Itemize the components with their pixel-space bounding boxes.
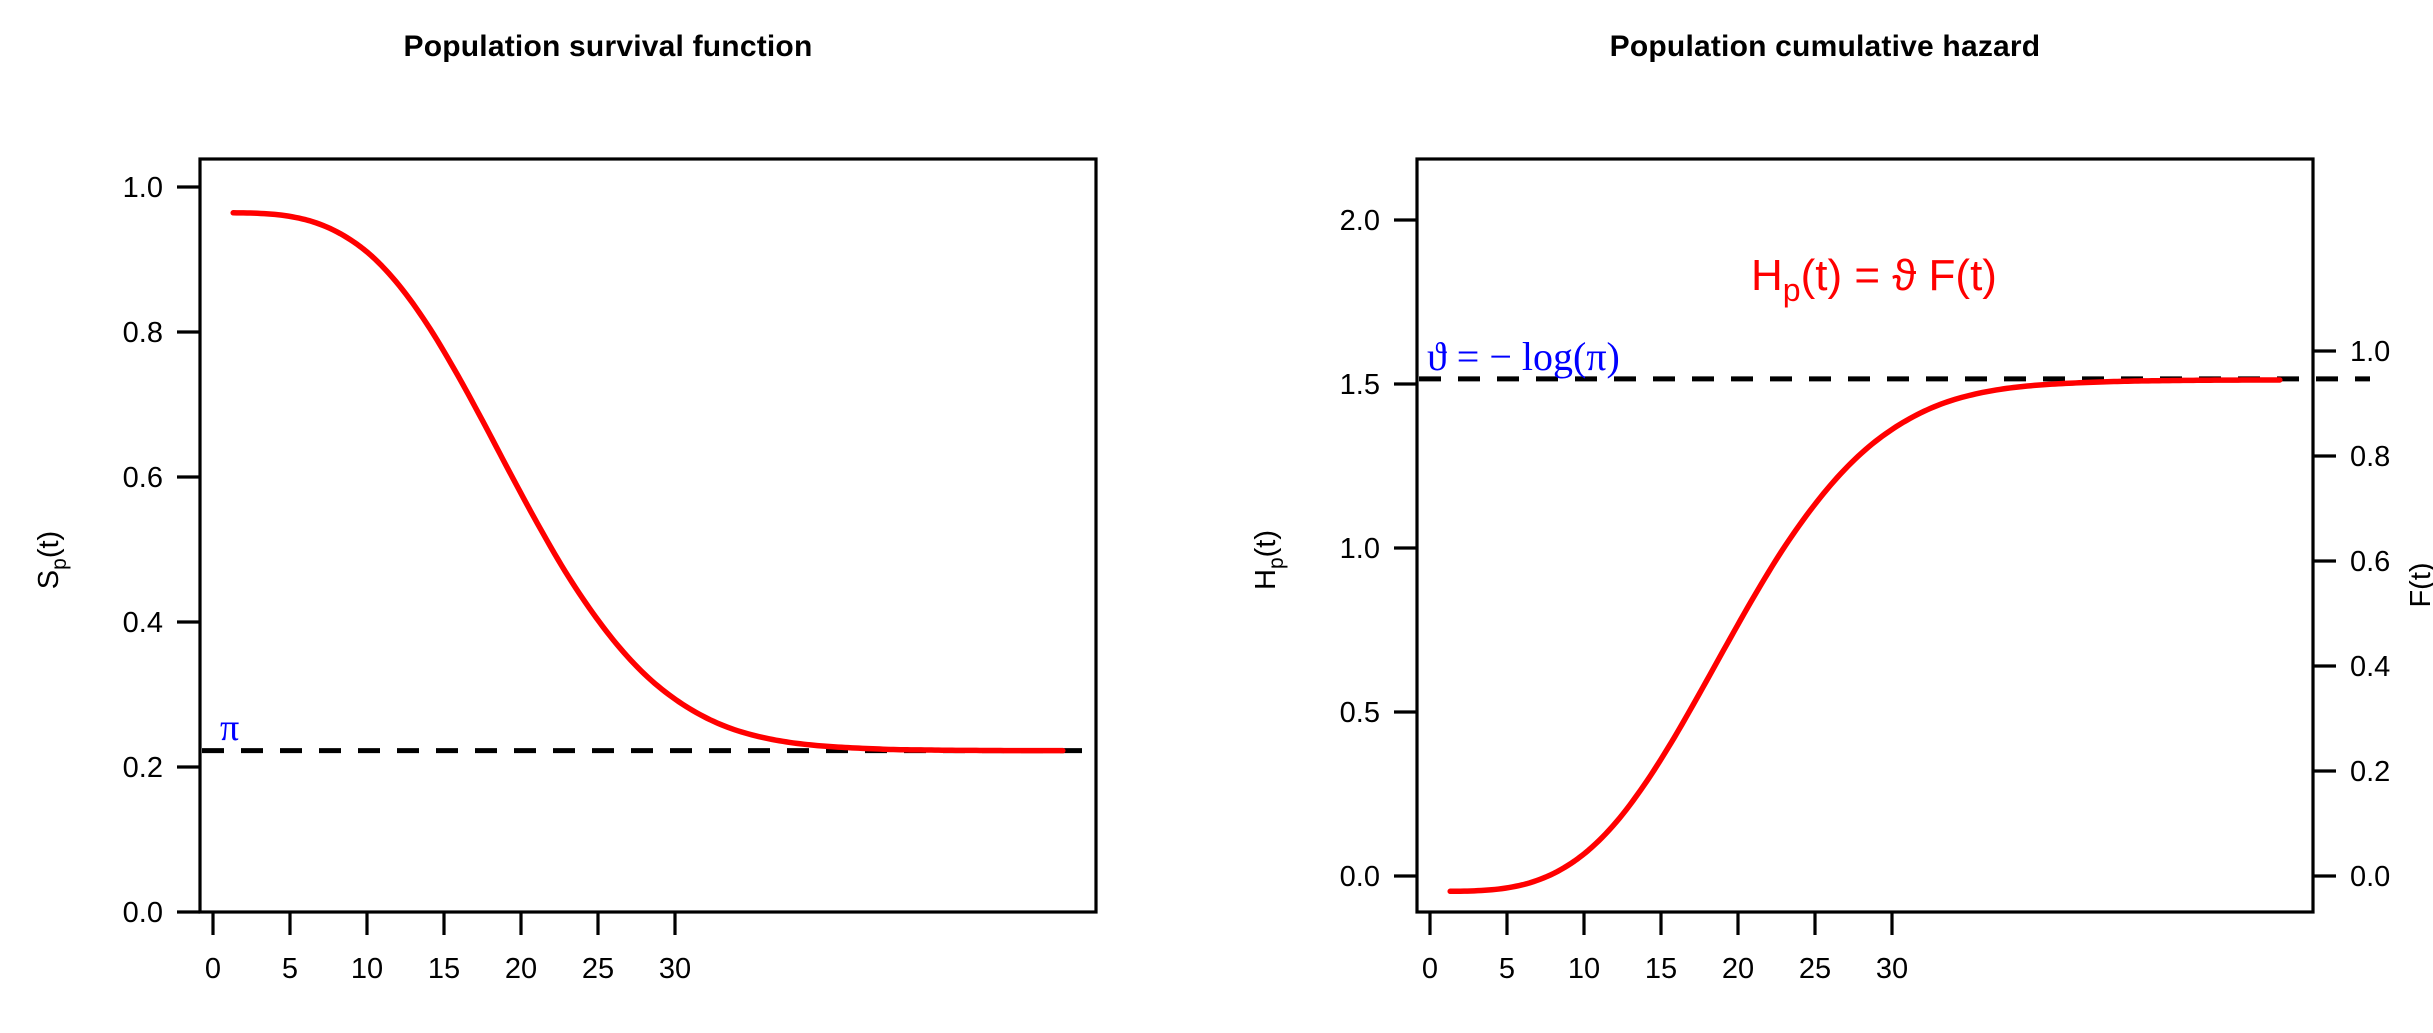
- y2-axis-ticks-right: [2313, 351, 2336, 876]
- panel-cumulative-hazard: Population cumulative hazard 0.0 0.5 1.0…: [1217, 0, 2433, 1033]
- x-tick-label: 5: [1499, 953, 1515, 985]
- y-tick-label: 0.4: [123, 607, 163, 639]
- y2-axis-title-text: F(t): [2405, 562, 2433, 607]
- y2-axis-title-right: F(t): [2405, 562, 2433, 607]
- y-tick-label: 1.0: [1340, 533, 1380, 565]
- x-tick-label: 15: [428, 953, 460, 985]
- annotation-hazard-sub: p: [1783, 272, 1801, 308]
- x-axis-ticks-right: [1430, 912, 1892, 935]
- y-axis-title-sub: p: [48, 558, 71, 570]
- y2-axis-tick-labels-right: 0.0 0.2 0.4 0.6 0.8 1.0: [2350, 336, 2390, 893]
- y-tick-label: 2.0: [1340, 205, 1380, 237]
- y2-tick-label: 0.2: [2350, 756, 2390, 788]
- y-tick-label: 1.0: [123, 172, 163, 204]
- y2-tick-label: 0.4: [2350, 651, 2390, 683]
- x-tick-label: 30: [659, 953, 691, 985]
- annotation-theta: ϑ = − log(π): [1427, 334, 1620, 379]
- svg-text:Hp(t): Hp(t): [1250, 530, 1288, 590]
- annotation-pi: π: [220, 707, 239, 749]
- cumulative-hazard-plot: 0.0 0.5 1.0 1.5 2.0 0.0 0.2 0.4 0.6 0.: [1217, 0, 2433, 1033]
- survival-curve: [233, 213, 1063, 751]
- plot-box-left: [200, 159, 1096, 912]
- x-tick-label: 5: [282, 953, 298, 985]
- annotation-hazard-formula: Hp(t) = ϑ F(t): [1751, 251, 1997, 308]
- x-tick-label: 20: [1722, 953, 1754, 985]
- annotation-hazard-h: H: [1751, 251, 1783, 300]
- y-tick-label: 1.5: [1340, 369, 1380, 401]
- y-tick-label: 0.5: [1340, 697, 1380, 729]
- y-axis-ticks-left: [177, 187, 200, 912]
- y2-tick-label: 0.6: [2350, 546, 2390, 578]
- y2-tick-label: 1.0: [2350, 336, 2390, 368]
- y-axis-title-tail: (t): [33, 531, 65, 558]
- cumulative-hazard-curve-main: [1450, 380, 2280, 891]
- annotation-hazard-rest: (t) = ϑ F(t): [1801, 251, 1997, 300]
- x-tick-label: 15: [1645, 953, 1677, 985]
- y-axis-tick-labels-left: 1.0 0.8 0.6 0.4 0.2 0.0: [123, 172, 163, 929]
- x-tick-label: 25: [582, 953, 614, 985]
- y-axis-title-main: S: [33, 570, 65, 589]
- x-axis-tick-labels-left: 0 5 10 15 20 25 30: [205, 953, 691, 985]
- y2-tick-label: 0.8: [2350, 441, 2390, 473]
- x-tick-label: 0: [205, 953, 221, 985]
- y-tick-label: 0.8: [123, 317, 163, 349]
- y-axis-tick-labels-right: 0.0 0.5 1.0 1.5 2.0: [1340, 205, 1380, 893]
- y-axis-title-sub: p: [1265, 557, 1288, 569]
- y-axis-title-main: H: [1250, 569, 1282, 590]
- panel-survival-function: Population survival function 1.0 0.8 0.6…: [0, 0, 1216, 1033]
- x-tick-label: 20: [505, 953, 537, 985]
- y-axis-title-right: Hp(t): [1250, 530, 1288, 590]
- svg-text:Sp(t): Sp(t): [33, 531, 71, 589]
- x-tick-label: 10: [351, 953, 383, 985]
- x-tick-label: 0: [1422, 953, 1438, 985]
- x-tick-label: 25: [1799, 953, 1831, 985]
- y2-tick-label: 0.0: [2350, 861, 2390, 893]
- x-axis-ticks-left: [213, 912, 675, 935]
- x-tick-label: 30: [1876, 953, 1908, 985]
- y-tick-label: 0.2: [123, 752, 163, 784]
- y-axis-ticks-right: [1394, 220, 1417, 876]
- survival-plot: 1.0 0.8 0.6 0.4 0.2 0.0 0 5 10: [0, 0, 1216, 1033]
- y-tick-label: 0.0: [123, 897, 163, 929]
- y-tick-label: 0.6: [123, 462, 163, 494]
- y-tick-label: 0.0: [1340, 861, 1380, 893]
- y-axis-title-left: Sp(t): [33, 531, 71, 589]
- figure-root: Population survival function 1.0 0.8 0.6…: [0, 0, 2433, 1033]
- x-axis-tick-labels-right: 0 5 10 15 20 25 30: [1422, 953, 1908, 985]
- x-tick-label: 10: [1568, 953, 1600, 985]
- y-axis-title-tail: (t): [1250, 530, 1282, 557]
